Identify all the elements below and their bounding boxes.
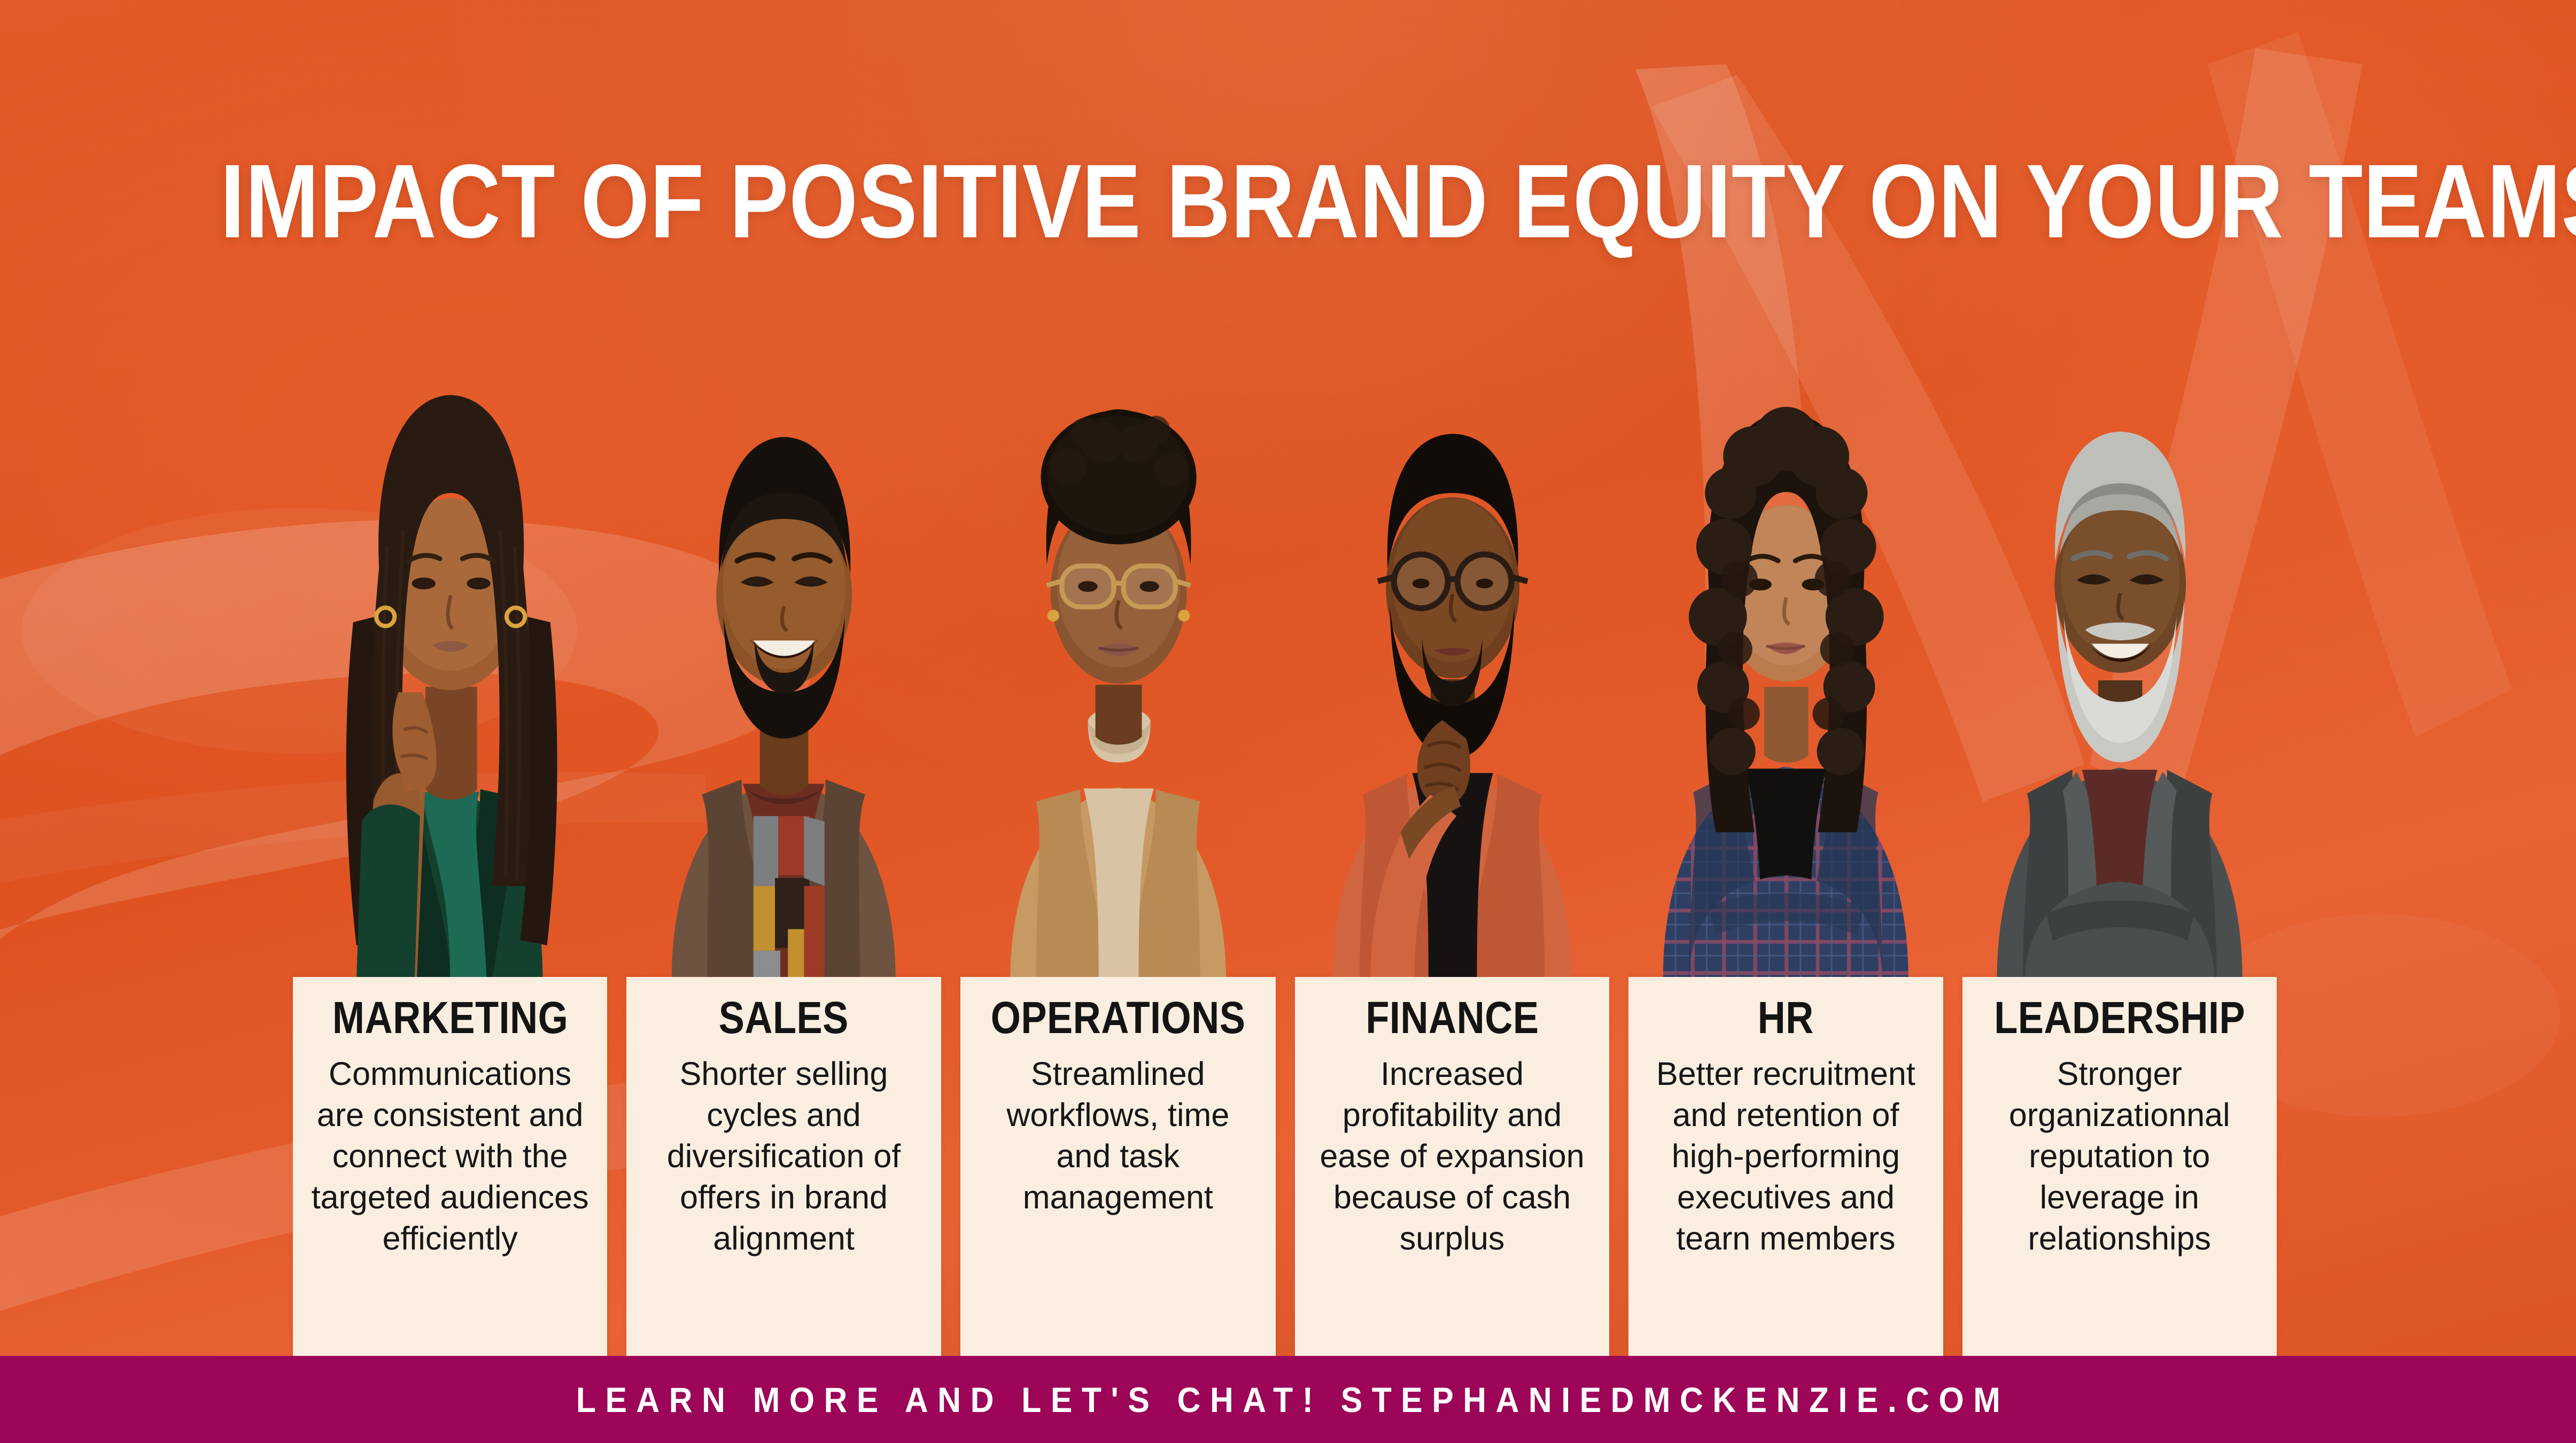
card-operations: OPERATIONS Streamlined workflows, time a… — [960, 977, 1276, 1356]
card-body-sales: Shorter selling cycles and diversificati… — [642, 1053, 925, 1260]
portrait-finance — [1295, 315, 1609, 977]
page-header: IMPACT OF POSITIVE BRAND EQUITY ON YOUR … — [0, 152, 2576, 251]
card-title-operations: OPERATIONS — [991, 996, 1246, 1039]
cta-banner-text: LEARN MORE AND LET'S CHAT! STEPHANIEDMCK… — [567, 1379, 2009, 1420]
card-hr: HR Better recruitment and retention of h… — [1628, 977, 1943, 1356]
card-finance: FINANCE Increased profitability and ease… — [1295, 977, 1609, 1356]
column-hr[interactable]: HR Better recruitment and retention of h… — [1628, 315, 1943, 1356]
card-body-hr: Better recruitment and retention of high… — [1644, 1053, 1927, 1260]
card-body-leadership: Stronger organizationnal reputation to l… — [1978, 1053, 2261, 1260]
card-title-leadership: LEADERSHIP — [1994, 996, 2245, 1039]
column-sales[interactable]: SALES Shorter selling cycles and diversi… — [626, 315, 941, 1356]
card-leadership: LEADERSHIP Stronger organizationnal repu… — [1962, 977, 2277, 1356]
column-marketing[interactable]: MARKETING Communications are consistent … — [293, 315, 607, 1356]
card-title-marketing: MARKETING — [332, 996, 568, 1039]
card-title-hr: HR — [1758, 996, 1814, 1039]
column-leadership[interactable]: LEADERSHIP Stronger organizationnal repu… — [1962, 315, 2277, 1356]
column-operations[interactable]: OPERATIONS Streamlined workflows, time a… — [960, 315, 1276, 1356]
card-body-finance: Increased profitability and ease of expa… — [1310, 1053, 1594, 1260]
portrait-marketing — [293, 315, 607, 977]
portrait-leadership — [1962, 315, 2277, 977]
portrait-sales — [626, 315, 941, 977]
column-finance[interactable]: FINANCE Increased profitability and ease… — [1295, 315, 1609, 1356]
card-marketing: MARKETING Communications are consistent … — [293, 977, 607, 1356]
card-sales: SALES Shorter selling cycles and diversi… — [626, 977, 941, 1356]
page-title: IMPACT OF POSITIVE BRAND EQUITY ON YOUR … — [220, 152, 2576, 251]
card-body-marketing: Communications are consistent and connec… — [308, 1053, 592, 1260]
portrait-operations — [960, 315, 1276, 977]
cta-banner[interactable]: LEARN MORE AND LET'S CHAT! STEPHANIEDMCK… — [0, 1356, 2576, 1443]
card-title-finance: FINANCE — [1365, 996, 1539, 1039]
department-columns: MARKETING Communications are consistent … — [293, 315, 2277, 1356]
portrait-hr — [1628, 315, 1943, 977]
card-title-sales: SALES — [719, 996, 849, 1039]
card-body-operations: Streamlined workflows, time and task man… — [976, 1053, 1260, 1219]
